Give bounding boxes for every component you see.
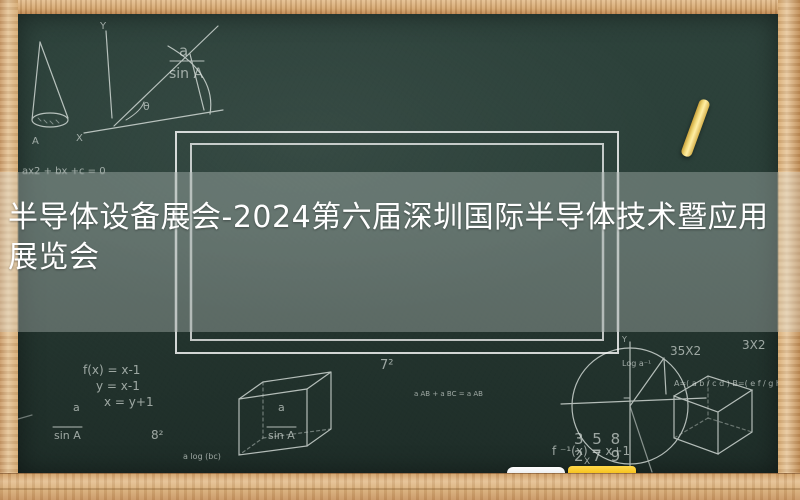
blackboard-poster: a sin A Y X θ A ax2 + bx +c = 0 a sin A … <box>0 0 800 500</box>
frame-top-rail <box>0 0 800 14</box>
page-title-text: 半导体设备展会-2024第六届深圳国际半导体技术暨应用展览会 <box>8 198 798 278</box>
ledge-lip <box>0 488 800 490</box>
page-title: 半导体设备展会-2024第六届深圳国际半导体技术暨应用展览会 <box>8 198 798 278</box>
chalk-ledge <box>0 473 800 500</box>
